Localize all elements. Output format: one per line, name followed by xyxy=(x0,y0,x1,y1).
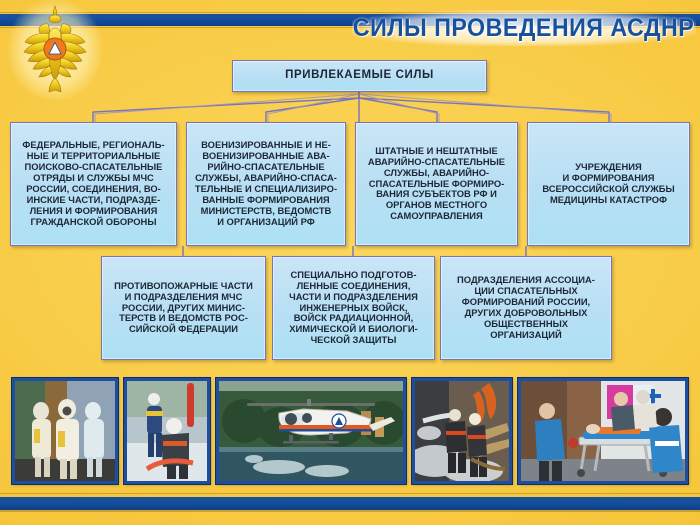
node-5-label: ПРОТИВОПОЖАРНЫЕ ЧАСТИ И ПОДРАЗДЕЛЕНИЯ МЧ… xyxy=(110,279,257,338)
poster-title: СИЛЫ ПРОВЕДЕНИЯ АСДНР xyxy=(352,10,696,46)
photo-4-caption: Тушение пожара xyxy=(0,0,1,1)
node-root-label: ПРИВЛЕКАЕМЫЕ СИЛЫ xyxy=(281,67,438,84)
node-federal-regional-rescue[interactable]: ФЕДЕРАЛЬНЫЕ, РЕГИОНАЛЬ- НЫЕ И ТЕРРИТОРИА… xyxy=(10,122,177,246)
emblem-label: МЧС России xyxy=(0,0,1,1)
photo-5-caption: Медицинская эвакуация пострадавшего xyxy=(0,0,1,1)
node-2-label: ВОЕНИЗИРОВАННЫЕ И НЕ- ВОЕНИЗИРОВАННЫЕ АВ… xyxy=(191,138,341,229)
node-disaster-medicine[interactable]: УЧРЕЖДЕНИЯ И ФОРМИРОВАНИЯ ВСЕРОССИЙСКОЙ … xyxy=(527,122,690,246)
node-3-label: ШТАТНЫЕ И НЕШТАТНЫЕ АВАРИЙНО-СПАСАТЕЛЬНЫ… xyxy=(364,144,509,224)
poster-root: СИЛЫ ПРОВЕДЕНИЯ АСДНР ПРИВЛЕКАЕМЫЕ СИЛЫ xyxy=(0,0,700,525)
node-6-label: СПЕЦИАЛЬНО ПОДГОТОВ- ЛЕННЫЕ СОЕДИНЕНИЯ, … xyxy=(285,268,422,348)
node-volunteer-associations[interactable]: ПОДРАЗДЕЛЕНИЯ АССОЦИА- ЦИИ СПАСАТЕЛЬНЫХ … xyxy=(440,256,612,360)
photo-2-caption: Пожарные с рукавом xyxy=(0,0,1,1)
photo-helicopter-water-drop xyxy=(216,378,406,484)
photo-strip xyxy=(0,378,700,484)
node-7-label: ПОДРАЗДЕЛЕНИЯ АССОЦИА- ЦИИ СПАСАТЕЛЬНЫХ … xyxy=(453,273,599,342)
photo-1-caption: Спасатели в защитных костюмах xyxy=(0,0,1,1)
node-engineering-rcb-troops[interactable]: СПЕЦИАЛЬНО ПОДГОТОВ- ЛЕННЫЕ СОЕДИНЕНИЯ, … xyxy=(272,256,435,360)
poster-title-text: СИЛЫ ПРОВЕДЕНИЯ АСДНР xyxy=(353,14,694,43)
photo-firefighters-hose xyxy=(124,378,210,484)
node-militarized-services[interactable]: ВОЕНИЗИРОВАННЫЕ И НЕ- ВОЕНИЗИРОВАННЫЕ АВ… xyxy=(186,122,346,246)
photo-rescuers-protective-suits xyxy=(12,378,118,484)
photo-medical-evacuation xyxy=(518,378,688,484)
emercom-emblem xyxy=(14,4,96,96)
double-headed-eagle-icon xyxy=(14,4,96,96)
node-4-label: УЧРЕЖДЕНИЯ И ФОРМИРОВАНИЯ ВСЕРОССИЙСКОЙ … xyxy=(538,160,678,208)
bottom-hairline xyxy=(0,493,700,494)
bottom-blue-bar xyxy=(0,497,700,510)
node-firefighting-units[interactable]: ПРОТИВОПОЖАРНЫЕ ЧАСТИ И ПОДРАЗДЕЛЕНИЯ МЧ… xyxy=(101,256,266,360)
photo-fire-suppression xyxy=(412,378,512,484)
node-1-label: ФЕДЕРАЛЬНЫЕ, РЕГИОНАЛЬ- НЫЕ И ТЕРРИТОРИА… xyxy=(18,138,168,229)
node-staff-nonstaff-services[interactable]: ШТАТНЫЕ И НЕШТАТНЫЕ АВАРИЙНО-СПАСАТЕЛЬНЫ… xyxy=(355,122,518,246)
node-root[interactable]: ПРИВЛЕКАЕМЫЕ СИЛЫ xyxy=(232,60,487,92)
photo-3-caption: Вертолёт МЧС над водой xyxy=(0,0,1,1)
